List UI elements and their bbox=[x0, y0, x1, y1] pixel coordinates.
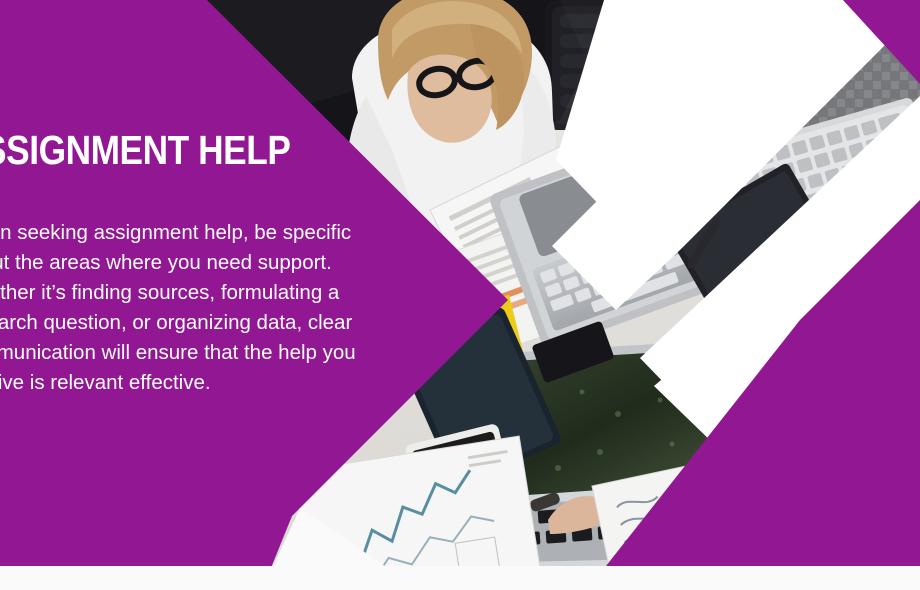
page-title: ASSIGNMENT HELP bbox=[0, 126, 336, 174]
body-line-1: When seeking assignment help, be specifi… bbox=[0, 218, 398, 248]
body-line-6: receive is relevant effective. bbox=[0, 368, 398, 398]
assignment-help-banner: ASSIGNMENT HELP When seeking assignment … bbox=[0, 0, 920, 590]
body-line-2: about the areas where you need support. bbox=[0, 248, 398, 278]
body-copy: When seeking assignment help, be specifi… bbox=[0, 218, 398, 398]
body-line-4: research question, or organizing data, c… bbox=[0, 308, 398, 338]
banner-copy: ASSIGNMENT HELP When seeking assignment … bbox=[0, 126, 398, 398]
body-line-5: communication will ensure that the help … bbox=[0, 338, 398, 368]
bottom-strip bbox=[0, 566, 920, 590]
body-line-3: Whether it’s finding sources, formulatin… bbox=[0, 278, 398, 308]
